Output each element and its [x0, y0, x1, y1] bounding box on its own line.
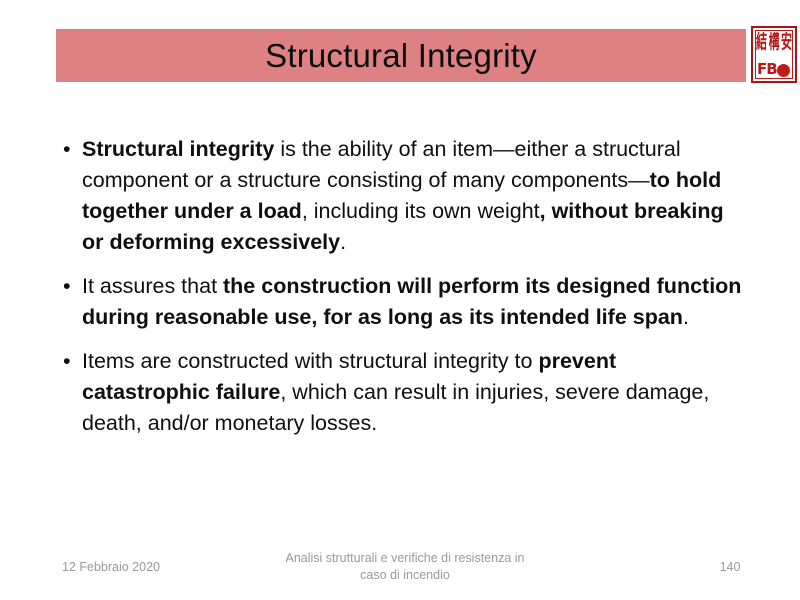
seal-letters-fb: FB: [757, 62, 777, 77]
bullet-text: It assures that the construction will pe…: [82, 274, 741, 329]
presentation-slide: { "slide": { "title": "Structural Integr…: [0, 0, 800, 600]
bullet-item: •Structural integrity is the ability of …: [56, 134, 746, 258]
bullet-text: Items are constructed with structural in…: [82, 349, 709, 435]
seal-dot-icon: [777, 64, 790, 77]
title-banner: Structural Integrity: [56, 29, 746, 82]
content-body: •Structural integrity is the ability of …: [56, 134, 746, 439]
bullet-marker-icon: •: [63, 346, 71, 377]
bullet-marker-icon: •: [63, 271, 71, 302]
footer-course-title: Analisi strutturali e verifiche di resis…: [240, 550, 570, 584]
slide-footer: 12 Febbraio 2020 Analisi strutturali e v…: [0, 540, 800, 600]
bullet-item: •Items are constructed with structural i…: [56, 346, 746, 439]
bullet-text: Structural integrity is the ability of a…: [82, 137, 724, 254]
footer-course-title-line2: caso di incendio: [240, 567, 570, 584]
page-title: Structural Integrity: [56, 29, 746, 82]
bullet-marker-icon: •: [63, 134, 71, 165]
bullet-item: •It assures that the construction will p…: [56, 271, 746, 333]
seal-glyph-row: 結 構 安: [756, 32, 792, 56]
fb-seal-logo-icon: 結 構 安 FB: [751, 26, 797, 83]
footer-page-number: 140: [700, 560, 760, 575]
footer-course-title-line1: Analisi strutturali e verifiche di resis…: [240, 550, 570, 567]
footer-date: 12 Febbraio 2020: [62, 560, 160, 575]
